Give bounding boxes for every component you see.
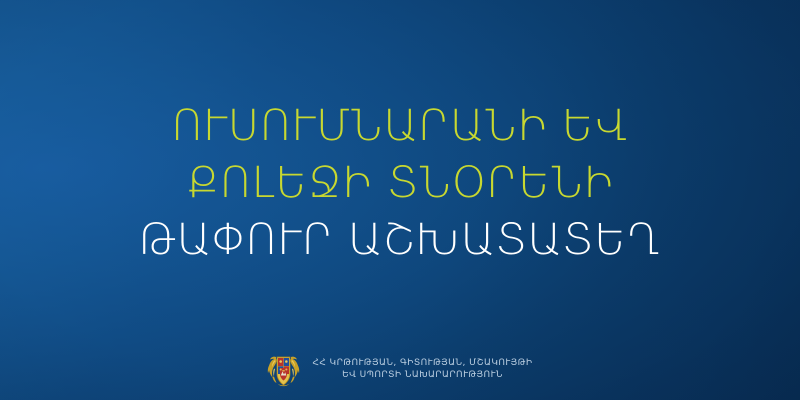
- armenian-coat-of-arms-icon: [267, 350, 300, 388]
- headline-line-3: ԹԱՓՈՒՐ ԱՇԽԱՏԱՏԵՂ: [0, 212, 800, 269]
- ministry-name: ՀՀ ԿՐԹՈՒԹՅԱՆ, ԳԻՏՈՒԹՅԱՆ, ՄՇԱԿՈՒՅԹԻ ԵՎ ՍՊ…: [312, 357, 532, 382]
- ministry-line-2: ԵՎ ՍՊՈՐՏԻ ՆԱԽԱՐԱՐՈՒԹՅՈՒՆ: [342, 369, 503, 382]
- headline-line-1: ՈՒՍՈՒՄՆԱՐԱՆԻ ԵՎ: [0, 98, 800, 155]
- ministry-footer: ՀՀ ԿՐԹՈՒԹՅԱՆ, ԳԻՏՈՒԹՅԱՆ, ՄՇԱԿՈՒՅԹԻ ԵՎ ՍՊ…: [0, 346, 800, 392]
- ministry-line-1: ՀՀ ԿՐԹՈՒԹՅԱՆ, ԳԻՏՈՒԹՅԱՆ, ՄՇԱԿՈՒՅԹԻ: [312, 357, 532, 370]
- headline-block: ՈՒՍՈՒՄՆԱՐԱՆԻ ԵՎ ՔՈԼԵՋԻ ՏՆՕՐԵՆԻ ԹԱՓՈՒՐ ԱՇ…: [0, 98, 800, 269]
- announcement-banner: ՈՒՍՈՒՄՆԱՐԱՆԻ ԵՎ ՔՈԼԵՋԻ ՏՆՕՐԵՆԻ ԹԱՓՈՒՐ ԱՇ…: [0, 0, 800, 400]
- headline-line-2: ՔՈԼԵՋԻ ՏՆՕՐԵՆԻ: [0, 155, 800, 212]
